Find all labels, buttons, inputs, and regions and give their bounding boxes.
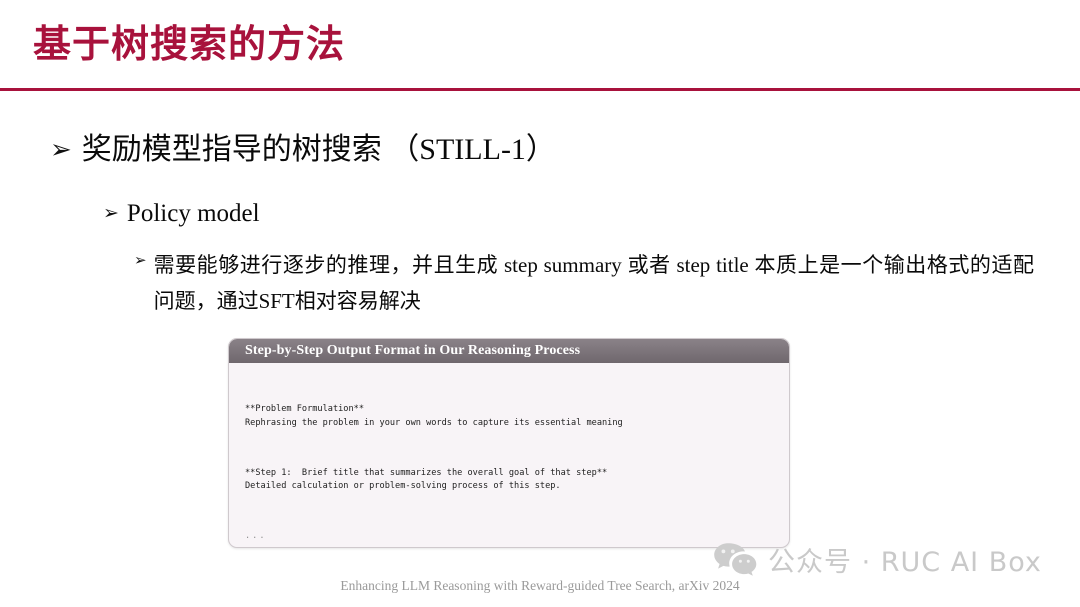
arrow-bullet-icon: ➢ [50,137,72,163]
watermark-label: 公众号 · RUC AI Box [768,540,1042,579]
figure-block: **Problem Formulation** Rephrasing the p… [245,403,789,430]
bullet-level3: ➢ 需要能够进行逐步的推理，并且生成 step summary 或者 step … [134,247,1034,319]
bullet-level2-label: Policy model [127,198,260,230]
bullet-level3-label: 需要能够进行逐步的推理，并且生成 step summary 或者 step ti… [154,247,1034,319]
figure-ellipsis: ... [245,530,789,544]
watermark: 公众号 · RUC AI Box [712,540,1042,579]
bullet-level1: ➢ 奖励模型指导的树搜索 （STILL-1） [50,130,556,170]
footer-citation: Enhancing LLM Reasoning with Reward-guid… [0,578,1080,594]
wechat-icon [712,541,758,579]
bullet-level2: ➢ Policy model [103,198,260,230]
figure-header-title: Step-by-Step Output Format in Our Reason… [245,343,580,359]
figure-block: **Step 1: Brief title that summarizes th… [245,467,789,494]
arrow-bullet-icon: ➢ [103,204,119,223]
arrow-bullet-icon: ➢ [134,253,147,268]
figure-card: Step-by-Step Output Format in Our Reason… [228,338,790,548]
bullet-level1-label: 奖励模型指导的树搜索 （STILL-1） [82,130,556,170]
figure-body: **Problem Formulation** Rephrasing the p… [229,363,789,548]
figure-header-bar: Step-by-Step Output Format in Our Reason… [229,339,789,363]
page-title: 基于树搜索的方法 [33,18,345,70]
title-divider [0,88,1080,91]
